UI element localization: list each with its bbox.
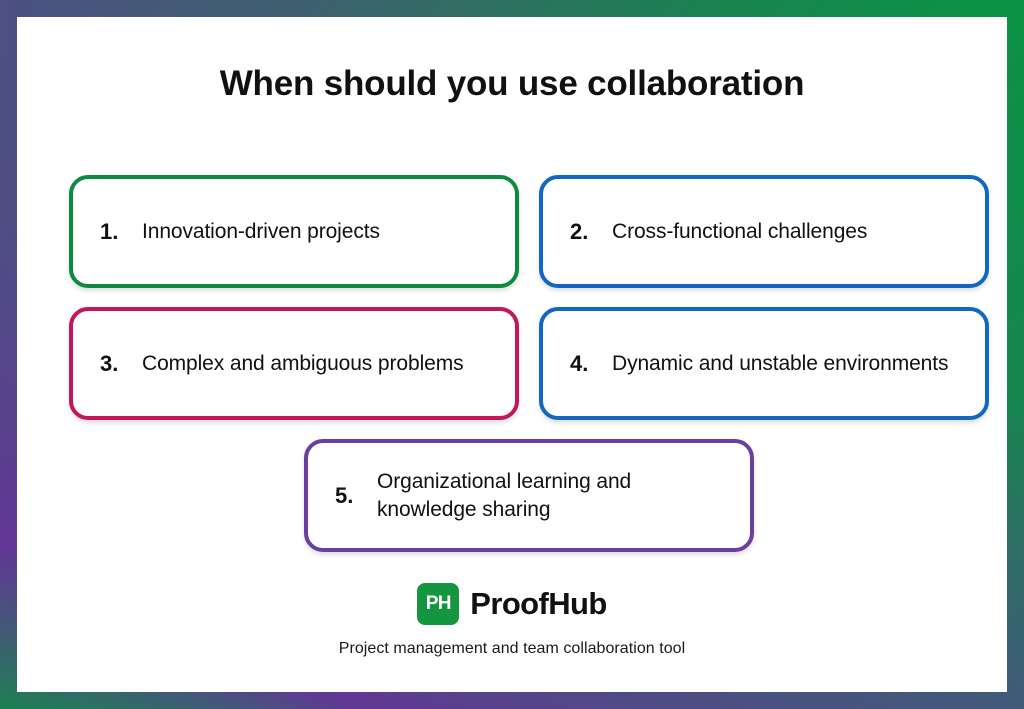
card-label-2: Cross-functional challenges — [612, 218, 985, 246]
card-label-5: Organizational learning and knowledge sh… — [377, 468, 750, 523]
card-number-5: 5. — [335, 482, 377, 510]
card-label-1: Innovation-driven projects — [142, 218, 515, 246]
card-number-4: 4. — [570, 350, 612, 378]
card-number-3: 3. — [100, 350, 142, 378]
list-item-card-4: 4. Dynamic and unstable environments — [539, 307, 989, 420]
card-label-4: Dynamic and unstable environments — [612, 350, 985, 378]
proofhub-logo-icon: PH — [417, 583, 459, 625]
list-item-card-3: 3. Complex and ambiguous problems — [69, 307, 519, 420]
card-number-2: 2. — [570, 218, 612, 246]
page-title: When should you use collaboration — [17, 65, 1007, 104]
list-item-card-2: 2. Cross-functional challenges — [539, 175, 989, 288]
list-item-card-5: 5. Organizational learning and knowledge… — [304, 439, 754, 552]
slide-canvas: When should you use collaboration 1. Inn… — [17, 17, 1007, 692]
card-number-1: 1. — [100, 218, 142, 246]
footer: PH ProofHub Project management and team … — [17, 583, 1007, 658]
brand-logo: PH ProofHub — [417, 583, 606, 625]
card-label-3: Complex and ambiguous problems — [142, 350, 515, 378]
gradient-frame: When should you use collaboration 1. Inn… — [0, 0, 1024, 709]
brand-tagline: Project management and team collaboratio… — [339, 640, 686, 658]
brand-name: ProofHub — [470, 586, 606, 622]
list-item-card-1: 1. Innovation-driven projects — [69, 175, 519, 288]
